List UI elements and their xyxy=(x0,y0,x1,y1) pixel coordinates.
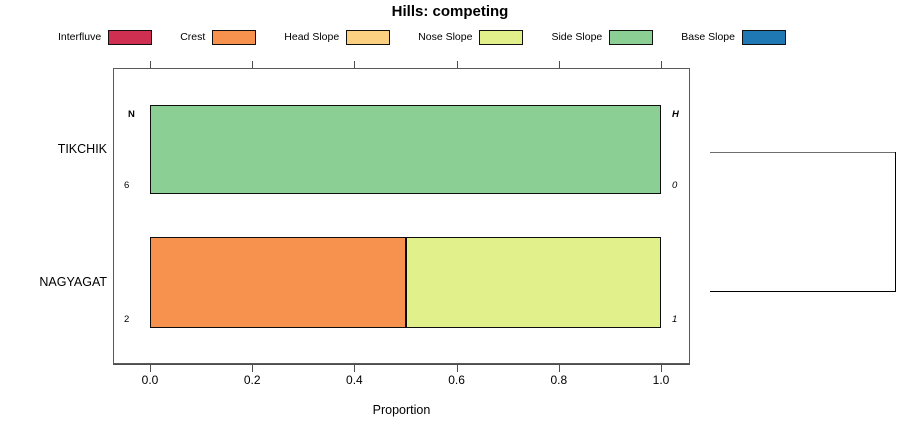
row-anno-left-bottom: 6 xyxy=(124,180,129,191)
row-label-nagyagat: NAGYAGAT xyxy=(0,275,107,291)
legend-label: Nose Slope xyxy=(418,31,472,43)
chart-root: Hills: competing InterfluveCrestHead Slo… xyxy=(0,0,900,440)
legend-entry: Interfluve xyxy=(58,30,180,45)
x-tick-label: 0.4 xyxy=(324,373,384,387)
chart-title: Hills: competing xyxy=(0,3,900,20)
legend-swatch xyxy=(108,30,152,45)
row-anno-right-bottom: 1 xyxy=(672,314,677,325)
row-anno-left-bottom: 2 xyxy=(124,314,129,325)
row-label-text: TIKCHIK xyxy=(58,142,107,156)
x-tick xyxy=(559,365,560,372)
legend-label: Base Slope xyxy=(681,31,735,43)
legend-entry: Head Slope xyxy=(284,30,418,45)
legend-label: Crest xyxy=(180,31,205,43)
legend-swatch xyxy=(742,30,786,45)
legend-swatch xyxy=(346,30,390,45)
chart-legend: InterfluveCrestHead SlopeNose SlopeSide … xyxy=(58,28,786,46)
x-tick-top xyxy=(661,61,662,68)
row-anno-right-top: H xyxy=(672,109,679,120)
legend-label: Side Slope xyxy=(551,31,602,43)
bar-segment[interactable] xyxy=(406,237,662,328)
x-axis-title: Proportion xyxy=(113,403,690,417)
dendrogram-merge-line xyxy=(895,152,896,292)
x-tick-top xyxy=(252,61,253,68)
row-label-text: NAGYAGAT xyxy=(39,275,107,289)
legend-swatch xyxy=(609,30,653,45)
row-anno-right-bottom: 0 xyxy=(672,180,677,191)
x-tick xyxy=(661,365,662,372)
legend-swatch xyxy=(479,30,523,45)
legend-entry: Base Slope xyxy=(681,30,786,45)
x-tick-label: 0.2 xyxy=(222,373,282,387)
legend-swatch xyxy=(212,30,256,45)
legend-label: Interfluve xyxy=(58,31,101,43)
x-tick-top xyxy=(354,61,355,68)
x-tick xyxy=(150,365,151,372)
legend-label: Head Slope xyxy=(284,31,339,43)
x-tick-top xyxy=(150,61,151,68)
x-tick-top xyxy=(457,61,458,68)
x-tick xyxy=(252,365,253,372)
x-tick-label: 0.8 xyxy=(529,373,589,387)
legend-entry: Crest xyxy=(180,30,284,45)
dendrogram-branch-top xyxy=(710,152,896,153)
x-tick-label: 1.0 xyxy=(631,373,691,387)
x-tick xyxy=(457,365,458,372)
bar-segment[interactable] xyxy=(150,237,406,328)
x-tick-top xyxy=(559,61,560,68)
x-axis-line xyxy=(113,364,690,365)
x-tick xyxy=(354,365,355,372)
dendrogram-branch-bottom xyxy=(710,291,896,292)
row-label-tikchik: TIKCHIK xyxy=(0,142,107,158)
bar-segment[interactable] xyxy=(150,105,661,194)
legend-entry: Side Slope xyxy=(551,30,681,45)
row-anno-left-top: N xyxy=(128,109,135,120)
x-tick-label: 0.6 xyxy=(427,373,487,387)
x-tick-label: 0.0 xyxy=(120,373,180,387)
legend-entry: Nose Slope xyxy=(418,30,551,45)
